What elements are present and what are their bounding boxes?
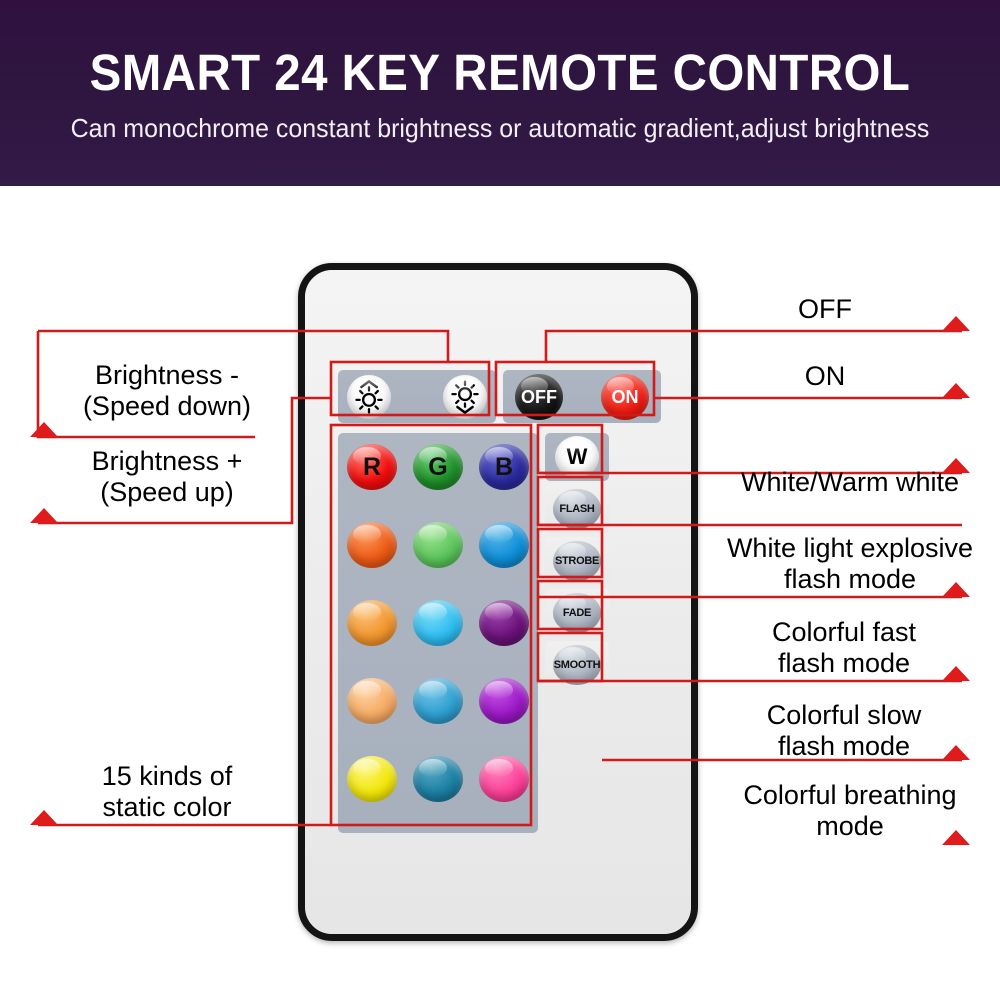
- fade-button-label: FADE: [563, 607, 591, 619]
- brightness-up-button[interactable]: [347, 375, 391, 419]
- color-key-blue-2[interactable]: [479, 522, 529, 568]
- label-on: ON: [700, 361, 950, 392]
- arrow-brightness-plus: [30, 508, 58, 523]
- fade-button[interactable]: FADE: [553, 593, 601, 633]
- color-key-orange[interactable]: [347, 600, 397, 646]
- on-button[interactable]: ON: [601, 374, 649, 420]
- label-brightness-minus: Brightness - (Speed down): [42, 360, 292, 422]
- remote-control-body: OFF ON R G B W: [298, 263, 698, 941]
- brightness-key-pad: [338, 370, 496, 423]
- color-key-pad: R G B: [338, 433, 538, 833]
- color-key-label: B: [495, 453, 513, 482]
- strobe-key-pad: STROBE: [545, 537, 609, 585]
- color-key-pink[interactable]: [479, 756, 529, 802]
- remote-face: OFF ON R G B W: [305, 270, 691, 934]
- color-key-label: G: [428, 453, 447, 482]
- smooth-button-label: SMOOTH: [554, 659, 600, 671]
- page-subtitle: Can monochrome constant brightness or au…: [20, 112, 980, 144]
- fade-key-pad: FADE: [545, 589, 609, 637]
- color-key-green[interactable]: G: [413, 444, 463, 490]
- label-smooth: Colorful breathing mode: [706, 780, 994, 842]
- smooth-key-pad: SMOOTH: [545, 641, 609, 689]
- strobe-button-label: STROBE: [555, 555, 599, 567]
- white-button[interactable]: W: [555, 436, 599, 478]
- label-white-warm-white: White/Warm white: [705, 467, 995, 498]
- strobe-button[interactable]: STROBE: [553, 541, 601, 581]
- arrow-brightness-minus: [30, 422, 58, 437]
- label-off: OFF: [700, 294, 950, 325]
- on-button-label: ON: [612, 387, 639, 408]
- color-key-label: R: [363, 453, 381, 482]
- brightness-down-button[interactable]: [443, 375, 487, 419]
- smooth-button[interactable]: SMOOTH: [553, 645, 601, 685]
- color-key-dark-teal[interactable]: [413, 756, 463, 802]
- color-key-dark-purple[interactable]: [479, 600, 529, 646]
- page-title: SMART 24 KEY REMOTE CONTROL: [35, 44, 965, 102]
- flash-key-pad: FLASH: [545, 485, 609, 533]
- color-key-orange-red[interactable]: [347, 522, 397, 568]
- label-flash: White light explosive flash mode: [700, 533, 1000, 595]
- color-key-blue[interactable]: B: [479, 444, 529, 490]
- color-key-red[interactable]: R: [347, 444, 397, 490]
- label-fade: Colorful slow flash mode: [714, 700, 974, 762]
- color-key-teal-blue[interactable]: [413, 678, 463, 724]
- sun-up-icon: [350, 378, 388, 416]
- off-button[interactable]: OFF: [515, 374, 563, 420]
- label-brightness-plus: Brightness + (Speed up): [42, 446, 292, 508]
- off-button-label: OFF: [521, 387, 557, 408]
- label-static-colors: 15 kinds of static color: [42, 761, 292, 823]
- flash-button-label: FLASH: [559, 503, 594, 515]
- power-key-pad: OFF ON: [503, 370, 661, 423]
- color-key-light-orange[interactable]: [347, 678, 397, 724]
- flash-button[interactable]: FLASH: [553, 489, 601, 529]
- color-key-light-green[interactable]: [413, 522, 463, 568]
- header-banner: SMART 24 KEY REMOTE CONTROL Can monochro…: [0, 0, 1000, 186]
- color-key-cyan[interactable]: [413, 600, 463, 646]
- white-key-pad: W: [545, 433, 609, 481]
- color-key-yellow[interactable]: [347, 756, 397, 802]
- color-key-purple[interactable]: [479, 678, 529, 724]
- sun-down-icon: [446, 378, 484, 416]
- label-strobe: Colorful fast flash mode: [714, 617, 974, 679]
- white-button-label: W: [567, 444, 588, 470]
